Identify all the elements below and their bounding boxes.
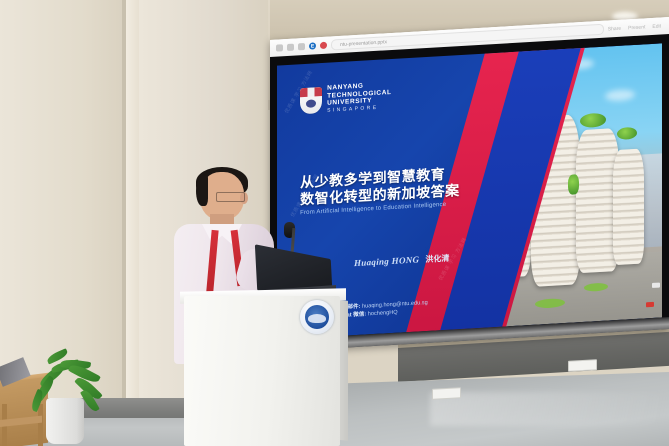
signature-english: Huaqing HONG xyxy=(354,255,419,269)
ntu-logo: NANYANG TECHNOLOGICAL UNIVERSITY SINGAPO… xyxy=(300,81,392,117)
plant-pot xyxy=(46,398,84,444)
podium-emblem xyxy=(300,300,334,334)
hive-tower xyxy=(613,149,644,266)
presenter-hair-side xyxy=(196,176,208,206)
forward-icon[interactable] xyxy=(287,44,294,51)
back-icon[interactable] xyxy=(276,44,283,51)
glasses-icon xyxy=(216,192,245,202)
menu-item-edit[interactable]: Edit xyxy=(652,23,661,29)
wall-label-2 xyxy=(568,359,597,372)
wall-panel-2 xyxy=(126,0,139,420)
menu-item-share[interactable]: Share xyxy=(608,25,621,32)
reload-icon[interactable] xyxy=(298,43,305,50)
record-icon[interactable] xyxy=(320,42,327,49)
edge-icon[interactable]: E xyxy=(309,42,316,49)
menu-item-present[interactable]: Present xyxy=(628,24,645,31)
table-leg-right xyxy=(38,404,43,446)
car xyxy=(652,282,660,287)
rooftop-greenery xyxy=(580,112,606,127)
wall-label-1 xyxy=(432,387,461,400)
presentation-photo-scene: E ntu-presentation.pptx Share Present Ed… xyxy=(0,0,669,446)
contact-wechat-value: hochengHQ xyxy=(368,309,398,317)
slide-title-block: 从少教多学到智慧教育 数智化转型的新加坡答案 From Artificial I… xyxy=(300,165,460,216)
ntu-crest-icon xyxy=(300,87,322,114)
courtyard-tree xyxy=(568,174,579,195)
car xyxy=(646,302,654,307)
institution-seal-icon xyxy=(305,305,329,329)
browser-menu[interactable]: Share Present Edit xyxy=(608,23,663,32)
rooftop-greenery xyxy=(617,127,637,140)
floor-reflection xyxy=(430,392,669,426)
ntu-wordmark: NANYANG TECHNOLOGICAL UNIVERSITY SINGAPO… xyxy=(327,81,392,115)
